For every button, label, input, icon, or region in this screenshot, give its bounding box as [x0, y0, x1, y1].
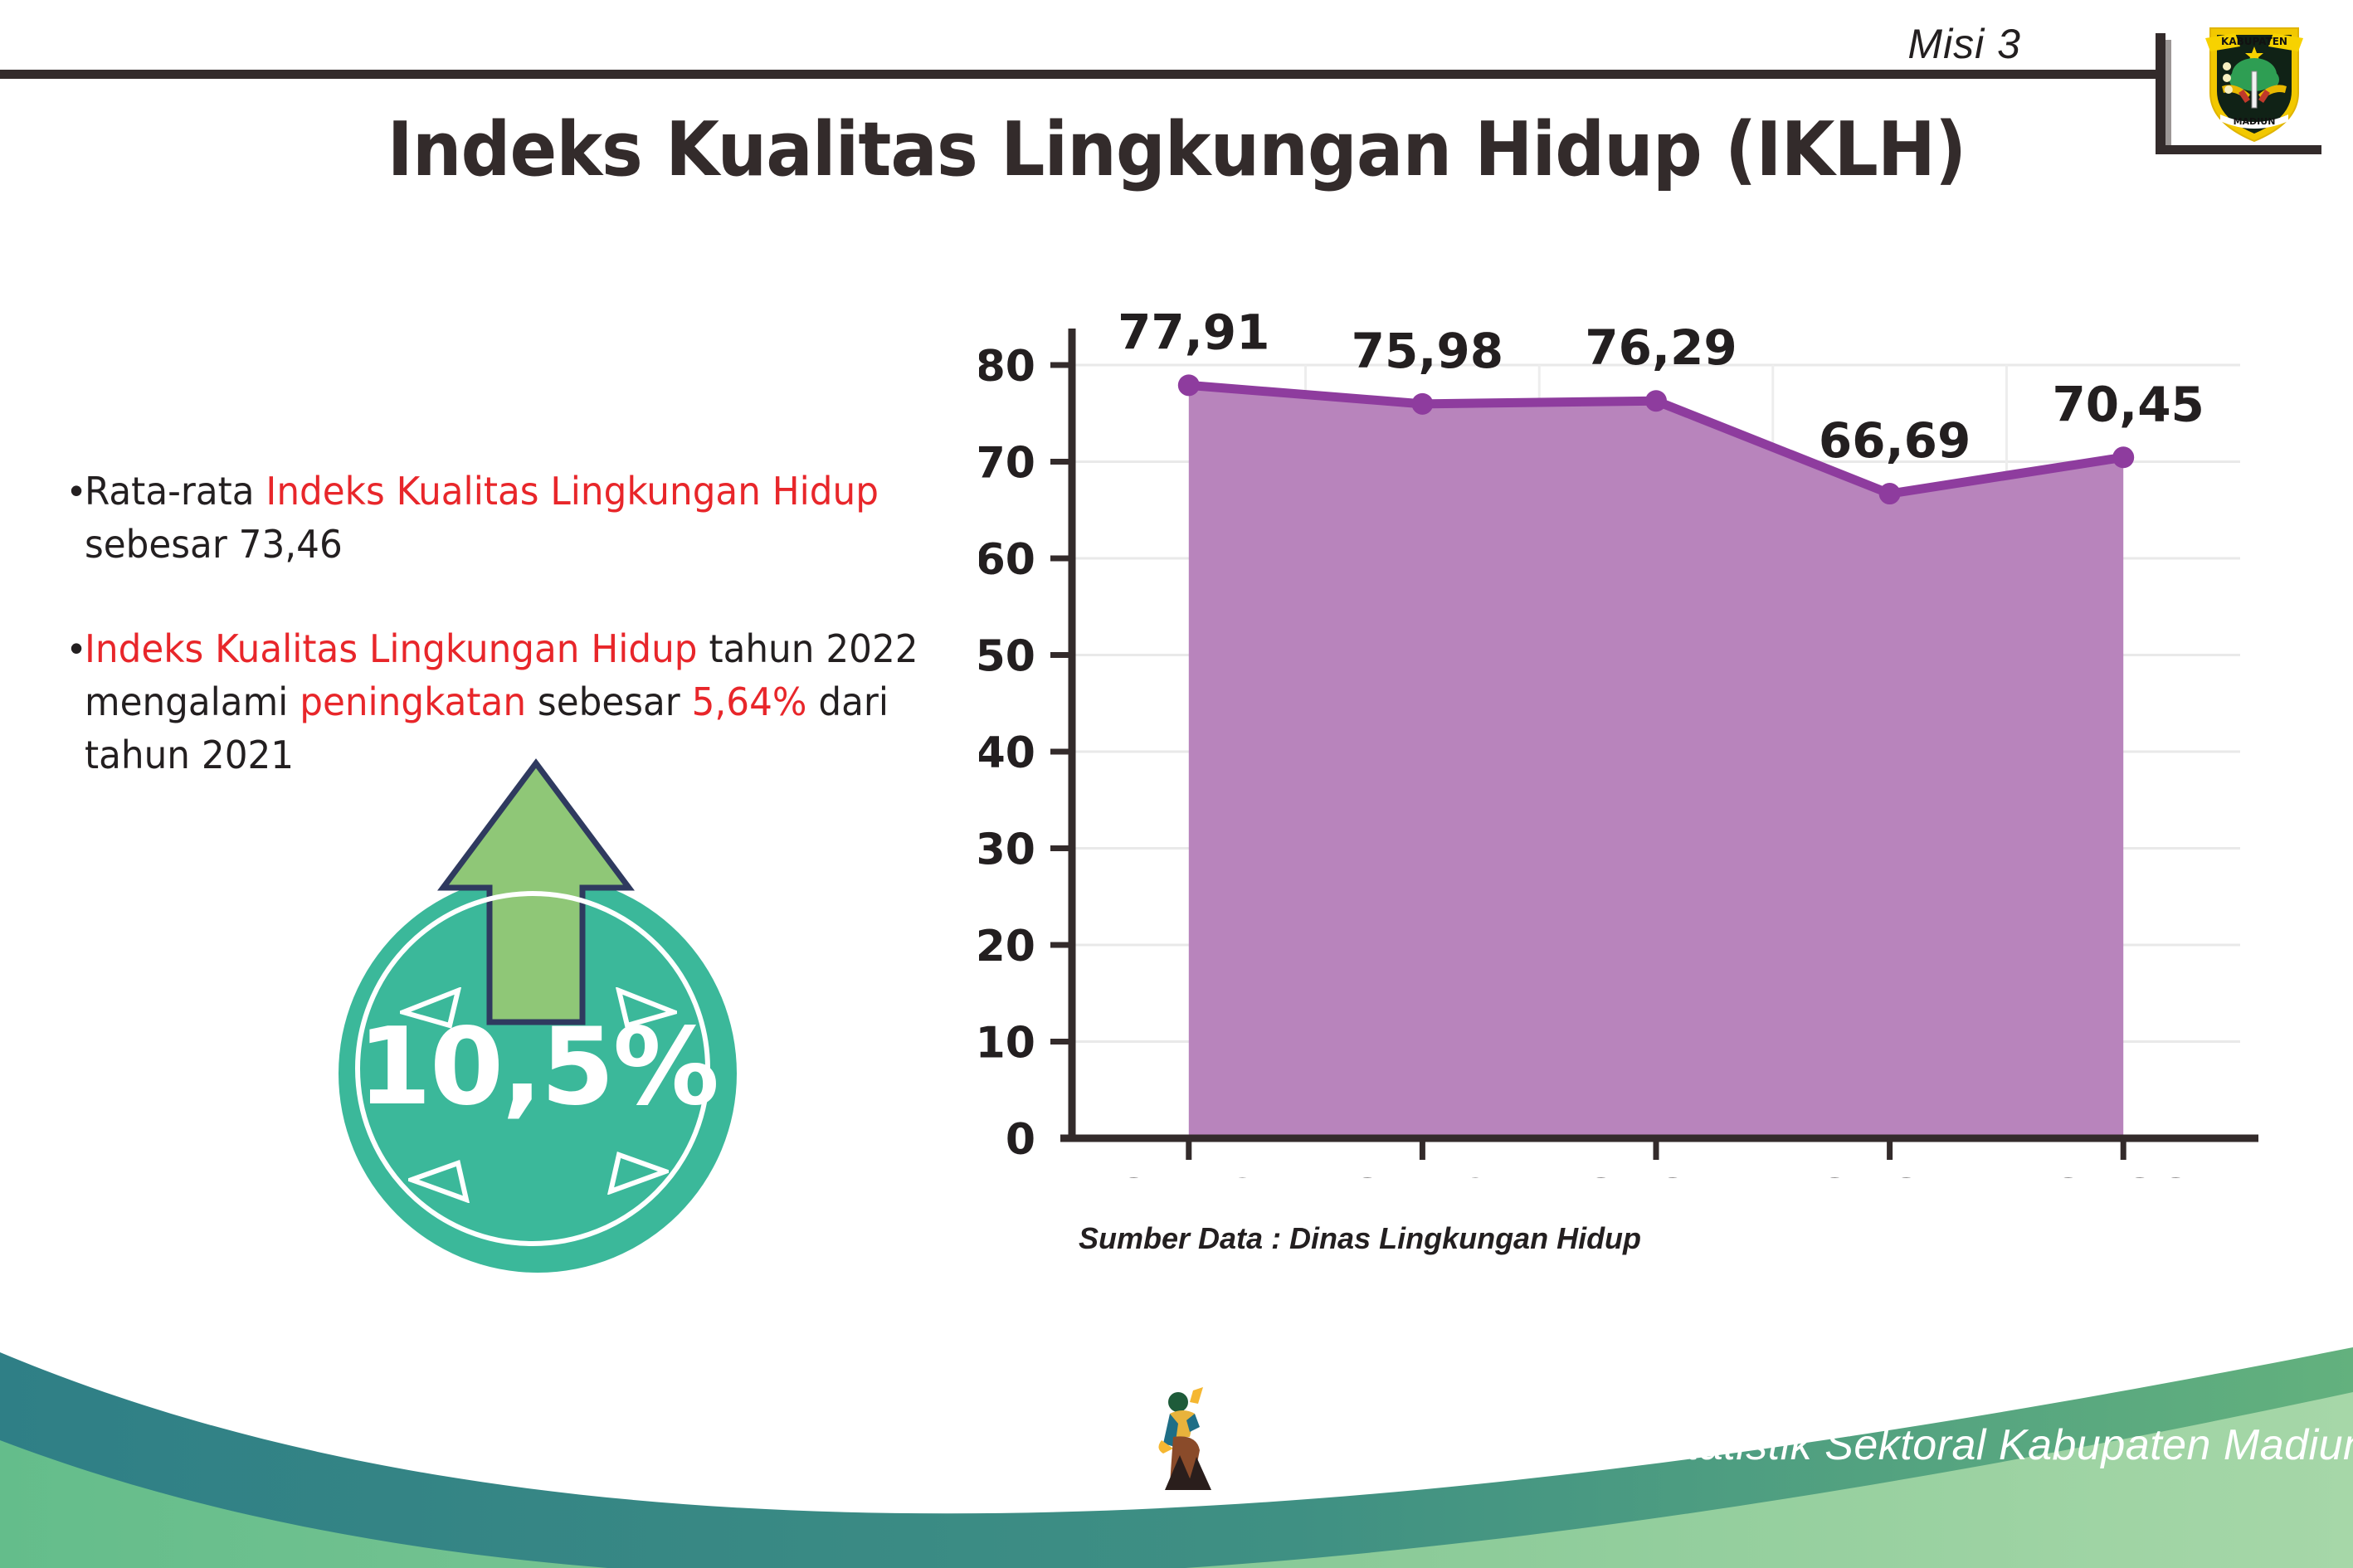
- bullet-2-seg-4: 5,64%: [692, 679, 807, 724]
- badge-spark-bottom-left-icon: [408, 1155, 475, 1203]
- data-point-label: 66,69: [1819, 412, 1971, 469]
- x-axis-tick-label: 2021: [1818, 1168, 1961, 1178]
- chart-canvas: 010203040506070802018201920202021202277,…: [979, 299, 2273, 1178]
- y-axis-tick-label: 80: [979, 342, 1035, 392]
- data-point-label: 70,45: [2052, 376, 2204, 432]
- data-point-marker: [1411, 393, 1433, 415]
- header-divider-line: [0, 70, 2157, 79]
- infographic-slide: Misi 3 KABUPATEN MADIUN: [0, 0, 2353, 1568]
- bullet-marker-icon: •: [70, 622, 83, 674]
- x-axis-tick-label: 2019: [1351, 1168, 1494, 1178]
- bullet-1-seg-2: sebesar 73,46: [85, 522, 343, 567]
- y-axis-tick-label: 60: [979, 535, 1035, 585]
- data-point-marker: [1178, 374, 1200, 396]
- bullet-2-seg-0: Indeks Kualitas Lingkungan Hidup: [85, 626, 698, 671]
- x-axis-tick-label: 2020: [1585, 1168, 1728, 1178]
- media-infografis-logo-icon: [1145, 1385, 1225, 1493]
- bullet-1-seg-1: Indeks Kualitas Lingkungan Hidup: [266, 469, 879, 514]
- data-point-marker: [1645, 390, 1667, 411]
- badge-percentage-value: 10,5%: [339, 1006, 737, 1129]
- svg-text:KABUPATEN: KABUPATEN: [2221, 36, 2287, 47]
- y-axis-tick-label: 20: [979, 922, 1035, 971]
- y-axis-tick-label: 0: [1006, 1115, 1035, 1165]
- y-axis-tick-label: 30: [979, 825, 1035, 875]
- iklh-area-chart: 010203040506070802018201920202021202277,…: [979, 299, 2273, 1178]
- data-point-marker: [2112, 446, 2134, 468]
- x-axis-tick-label: 2022: [2052, 1168, 2195, 1178]
- y-axis-tick-label: 70: [979, 439, 1035, 489]
- footer-banner: Media Infografis Data Statistik Sektoral…: [0, 1294, 2353, 1568]
- list-item: • Rata-rata Indeks Kualitas Lingkungan H…: [70, 465, 991, 571]
- data-point-label: 75,98: [1352, 323, 1503, 379]
- bullet-2-seg-3: sebesar: [526, 679, 692, 724]
- data-point-label: 76,29: [1585, 319, 1737, 376]
- bullet-text-1: Rata-rata Indeks Kualitas Lingkungan Hid…: [85, 465, 945, 571]
- bullet-2-seg-2: peningkatan: [300, 679, 526, 724]
- y-axis-tick-label: 10: [979, 1019, 1035, 1069]
- mission-label: Misi 3: [1907, 20, 2021, 68]
- area-fill: [1189, 385, 2123, 1138]
- bullet-1-seg-0: Rata-rata: [85, 469, 266, 514]
- data-point-marker: [1879, 483, 1901, 504]
- page-title: Indeks Kualitas Lingkungan Hidup (IKLH): [82, 106, 2270, 193]
- increase-badge: 10,5%: [320, 757, 752, 1221]
- data-point-label: 77,91: [1118, 304, 1269, 360]
- chart-source-note: Sumber Data : Dinas Lingkungan Hidup: [1079, 1221, 1641, 1256]
- bullet-marker-icon: •: [70, 465, 83, 516]
- y-axis-tick-label: 40: [979, 728, 1035, 778]
- x-axis-tick-label: 2018: [1118, 1168, 1261, 1178]
- badge-spark-bottom-right-icon: [602, 1147, 669, 1195]
- footer-caption: Media Infografis Data Statistik Sektoral…: [1226, 1420, 2353, 1470]
- y-axis-tick-label: 50: [979, 632, 1035, 682]
